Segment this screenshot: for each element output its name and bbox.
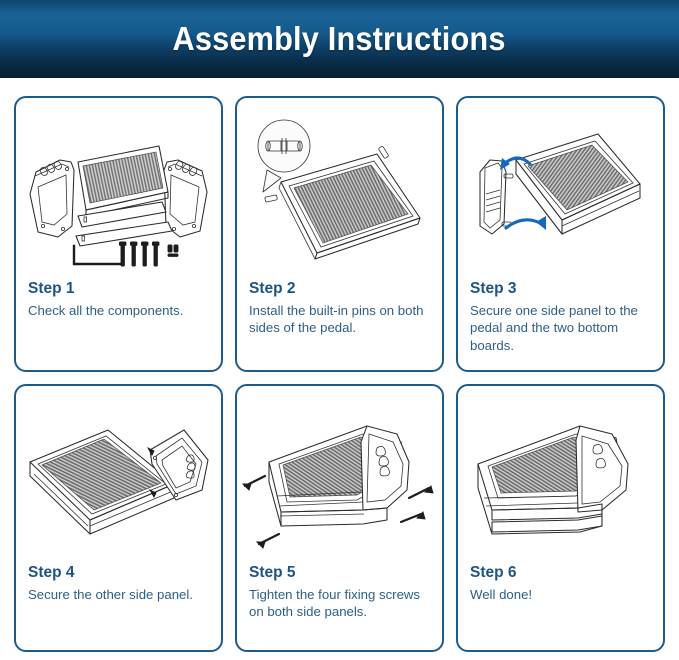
step-2-text: Install the built-in pins on both sides … bbox=[249, 302, 430, 337]
built-in-pin-left bbox=[265, 195, 278, 202]
built-in-pin-right bbox=[378, 146, 389, 159]
screw-bottom-left bbox=[257, 534, 279, 548]
screw-bottom-right bbox=[401, 512, 425, 522]
screw-top-right bbox=[409, 486, 433, 498]
step-1-text: Check all the components. bbox=[28, 302, 209, 319]
step-card-3: Step 3 Secure one side panel to the peda… bbox=[456, 96, 665, 372]
assembled-footrest bbox=[269, 426, 409, 526]
step-card-6: Step 6 Well done! bbox=[456, 384, 665, 652]
step-card-1: Step 1 Check all the components. bbox=[14, 96, 223, 372]
step-6-label: Step 6 bbox=[470, 564, 651, 581]
pedal-assembly bbox=[30, 430, 174, 534]
assembly-arrow-bottom bbox=[506, 216, 546, 230]
step-4-caption: Step 4 Secure the other side panel. bbox=[16, 564, 221, 611]
step-5-caption: Step 5 Tighten the four fixing screws on… bbox=[237, 564, 442, 629]
pedal-body bbox=[516, 134, 640, 234]
step-1-illustration bbox=[16, 98, 221, 278]
screw-top-left bbox=[243, 476, 265, 490]
step-6-text: Well done! bbox=[470, 586, 651, 603]
step-5-label: Step 5 bbox=[249, 564, 430, 581]
allen-wrench-part bbox=[74, 246, 120, 264]
side-panel-attaching bbox=[480, 160, 513, 234]
step-card-5: Step 5 Tighten the four fixing screws on… bbox=[235, 384, 444, 652]
step-2-label: Step 2 bbox=[249, 280, 430, 297]
step-5-text: Tighten the four fixing screws on both s… bbox=[249, 586, 430, 621]
page-header: Assembly Instructions bbox=[0, 0, 679, 78]
step-4-label: Step 4 bbox=[28, 564, 209, 581]
completed-footrest bbox=[478, 426, 628, 534]
small-fittings-group bbox=[168, 245, 178, 256]
step-1-label: Step 1 bbox=[28, 280, 209, 297]
step-card-4: Step 4 Secure the other side panel. bbox=[14, 384, 223, 652]
step-3-caption: Step 3 Secure one side panel to the peda… bbox=[458, 280, 663, 362]
step-card-2: Step 2 Install the built-in pins on both… bbox=[235, 96, 444, 372]
step-6-illustration bbox=[458, 386, 663, 564]
left-side-panel-part bbox=[30, 160, 74, 237]
step-3-label: Step 3 bbox=[470, 280, 651, 297]
step-4-illustration bbox=[16, 386, 221, 564]
step-6-caption: Step 6 Well done! bbox=[458, 564, 663, 611]
steps-grid: Step 1 Check all the components. bbox=[14, 96, 665, 652]
right-side-panel-part bbox=[164, 160, 207, 237]
step-2-caption: Step 2 Install the built-in pins on both… bbox=[237, 280, 442, 345]
step-3-text: Secure one side panel to the pedal and t… bbox=[470, 302, 651, 354]
page-title: Assembly Instructions bbox=[173, 20, 506, 58]
screws-group bbox=[119, 242, 159, 266]
step-3-illustration bbox=[458, 98, 663, 278]
step-2-illustration bbox=[237, 98, 442, 278]
pedal-board bbox=[279, 154, 420, 259]
step-4-text: Secure the other side panel. bbox=[28, 586, 209, 603]
step-5-illustration bbox=[237, 386, 442, 564]
step-1-caption: Step 1 Check all the components. bbox=[16, 280, 221, 327]
